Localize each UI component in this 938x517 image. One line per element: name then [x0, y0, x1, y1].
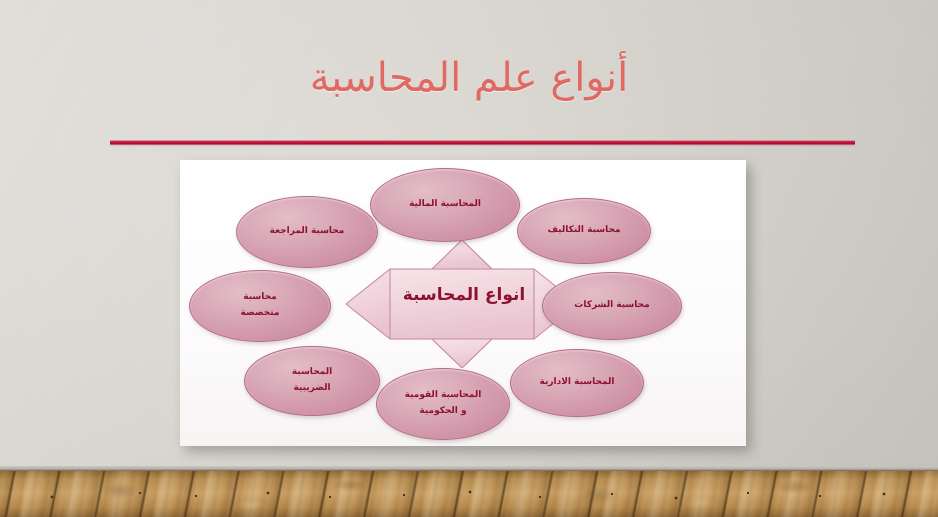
- node-label: محاسبة الشركات: [549, 298, 675, 314]
- title-divider-rule: [110, 140, 855, 145]
- floor-nail-knots: [0, 471, 938, 517]
- page-title: أنواع علم المحاسبة: [0, 56, 938, 100]
- node-financial-accounting[interactable]: المحاسبة المالية: [370, 168, 520, 242]
- node-label: المحاسبة المالية: [377, 197, 513, 213]
- node-label-line2: متخصصة: [241, 306, 280, 322]
- node-audit-accounting[interactable]: محاسبة المراجعة: [236, 196, 378, 268]
- node-label-line2: الضريبية: [292, 381, 332, 397]
- node-label: محاسبة التكاليف: [524, 223, 644, 239]
- node-label-line1: المحاسبة: [292, 365, 332, 381]
- node-label-line1: محاسبة: [241, 290, 280, 306]
- node-label-group: المحاسبة الضريبية: [292, 365, 332, 397]
- node-cost-accounting[interactable]: محاسبة التكاليف: [517, 198, 651, 264]
- node-label: المحاسبة الادارية: [517, 375, 637, 391]
- node-tax-accounting[interactable]: المحاسبة الضريبية: [244, 346, 380, 416]
- node-label-group: المحاسبة القومية و الحكومية: [405, 388, 482, 420]
- node-label-group: محاسبة متخصصة: [241, 290, 280, 322]
- node-national-government-accounting[interactable]: المحاسبة القومية و الحكومية: [376, 368, 510, 440]
- diagram-image-panel: المحاسبة المالية محاسبة التكاليف محاسبة …: [180, 160, 746, 446]
- presentation-slide: أنواع علم المحاسبة: [0, 0, 938, 517]
- node-label-line1: المحاسبة القومية: [405, 388, 482, 404]
- node-corporate-accounting[interactable]: محاسبة الشركات: [542, 272, 682, 340]
- node-specialized-accounting[interactable]: محاسبة متخصصة: [189, 270, 331, 342]
- node-managerial-accounting[interactable]: المحاسبة الادارية: [510, 349, 644, 417]
- wooden-floor: [0, 471, 938, 517]
- node-label: محاسبة المراجعة: [243, 224, 371, 240]
- diagram-stage: المحاسبة المالية محاسبة التكاليف محاسبة …: [180, 160, 746, 446]
- node-label-line2: و الحكومية: [405, 404, 482, 420]
